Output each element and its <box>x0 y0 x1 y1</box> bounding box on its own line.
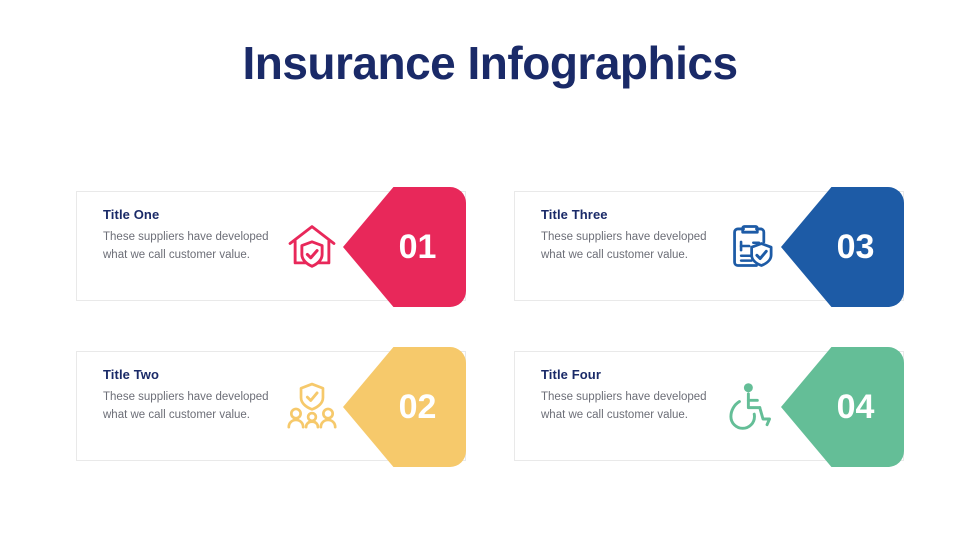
cards-grid: Title One These suppliers have developed… <box>76 191 904 461</box>
infographic-slide: Insurance Infographics Title One These s… <box>0 0 980 551</box>
card-number: 03 <box>811 230 875 264</box>
card-text-block: Title Two These suppliers have developed… <box>103 367 273 424</box>
card-item[interactable]: Title Four These suppliers have develope… <box>514 351 904 461</box>
card-number: 04 <box>811 390 875 424</box>
family-shield-icon <box>283 377 341 435</box>
card-item[interactable]: Title Three These suppliers have develop… <box>514 191 904 301</box>
card-title: Title One <box>103 207 273 222</box>
card-number-badge: 03 <box>781 187 904 307</box>
card-number-badge: 01 <box>343 187 466 307</box>
card-item[interactable]: Title Two These suppliers have developed… <box>76 351 466 461</box>
card-description: These suppliers have developed what we c… <box>541 229 711 264</box>
card-number: 01 <box>373 230 437 264</box>
card-number-badge: 02 <box>343 347 466 467</box>
card-title: Title Two <box>103 367 273 382</box>
card-description: These suppliers have developed what we c… <box>541 389 711 424</box>
card-description: These suppliers have developed what we c… <box>103 229 273 264</box>
card-text-block: Title Four These suppliers have develope… <box>541 367 711 424</box>
card-title: Title Three <box>541 207 711 222</box>
card-number-badge: 04 <box>781 347 904 467</box>
wheelchair-accessibility-icon <box>721 377 779 435</box>
card-title: Title Four <box>541 367 711 382</box>
page-title: Insurance Infographics <box>0 36 980 90</box>
card-text-block: Title One These suppliers have developed… <box>103 207 273 264</box>
card-description: These suppliers have developed what we c… <box>103 389 273 424</box>
house-shield-check-icon <box>283 217 341 275</box>
card-text-block: Title Three These suppliers have develop… <box>541 207 711 264</box>
card-number: 02 <box>373 390 437 424</box>
medical-clipboard-shield-icon <box>721 217 779 275</box>
card-item[interactable]: Title One These suppliers have developed… <box>76 191 466 301</box>
